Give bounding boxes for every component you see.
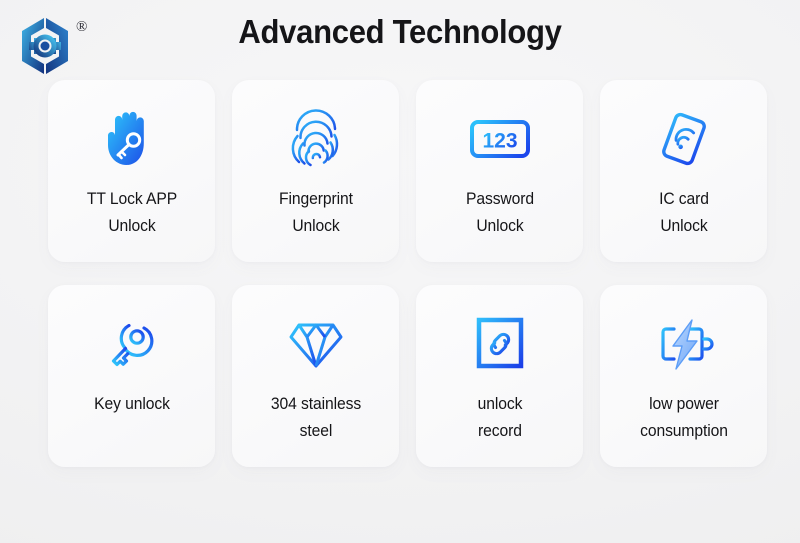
feature-card-ic-card-unlock[interactable]: IC card Unlock [600, 80, 767, 262]
diamond-icon [280, 313, 352, 375]
fingerprint-icon [280, 108, 352, 170]
feature-label: IC card Unlock [612, 186, 755, 239]
keypad-123-icon: 123 [464, 108, 536, 170]
feature-card-304-stainless-steel[interactable]: 304 stainless steel [232, 285, 399, 467]
page-title: Advanced Technology [24, 13, 776, 51]
feature-label: Key unlock [60, 391, 203, 418]
feature-label-line2: Unlock [108, 217, 155, 235]
feature-label-line1: unlock [477, 395, 522, 413]
feature-card-fingerprint-unlock[interactable]: Fingerprint Unlock [232, 80, 399, 262]
battery-bolt-icon [648, 313, 720, 375]
feature-label-line1: Password [465, 190, 533, 208]
feature-label: Password Unlock [428, 186, 571, 239]
feature-card-password-unlock[interactable]: 123 Password Unlock [416, 80, 583, 262]
nfc-card-icon [648, 108, 720, 170]
feature-label: 304 stainless steel [244, 391, 387, 444]
feature-card-key-unlock[interactable]: Key unlock [48, 285, 215, 467]
key-icon [96, 313, 168, 375]
feature-label: low power consumption [612, 391, 755, 444]
feature-grid: TT Lock APP Unlock [48, 80, 766, 467]
feature-label-line2: Unlock [660, 217, 707, 235]
feature-label: TT Lock APP Unlock [60, 186, 203, 239]
feature-label-line2: Unlock [476, 217, 523, 235]
feature-label-line2: consumption [640, 422, 728, 440]
feature-label-line2: steel [299, 422, 332, 440]
feature-label-line1: 304 stainless [270, 395, 360, 413]
feature-label-line1: Fingerprint [279, 190, 353, 208]
feature-label-line1: low power [649, 395, 719, 413]
feature-card-tt-lock-app-unlock[interactable]: TT Lock APP Unlock [48, 80, 215, 262]
keypad-digits: 123 [482, 130, 517, 153]
hand-key-icon [96, 108, 168, 170]
feature-label: unlock record [428, 391, 571, 444]
feature-card-unlock-record[interactable]: unlock record [416, 285, 583, 467]
feature-label-line2: Unlock [292, 217, 339, 235]
feature-label-line1: TT Lock APP [86, 190, 176, 208]
feature-label-line1: Key unlock [94, 395, 170, 413]
chain-link-square-icon [464, 313, 536, 375]
feature-card-low-power-consumption[interactable]: low power consumption [600, 285, 767, 467]
feature-label-line1: IC card [659, 190, 709, 208]
feature-label: Fingerprint Unlock [244, 186, 387, 239]
feature-label-line2: record [478, 422, 522, 440]
